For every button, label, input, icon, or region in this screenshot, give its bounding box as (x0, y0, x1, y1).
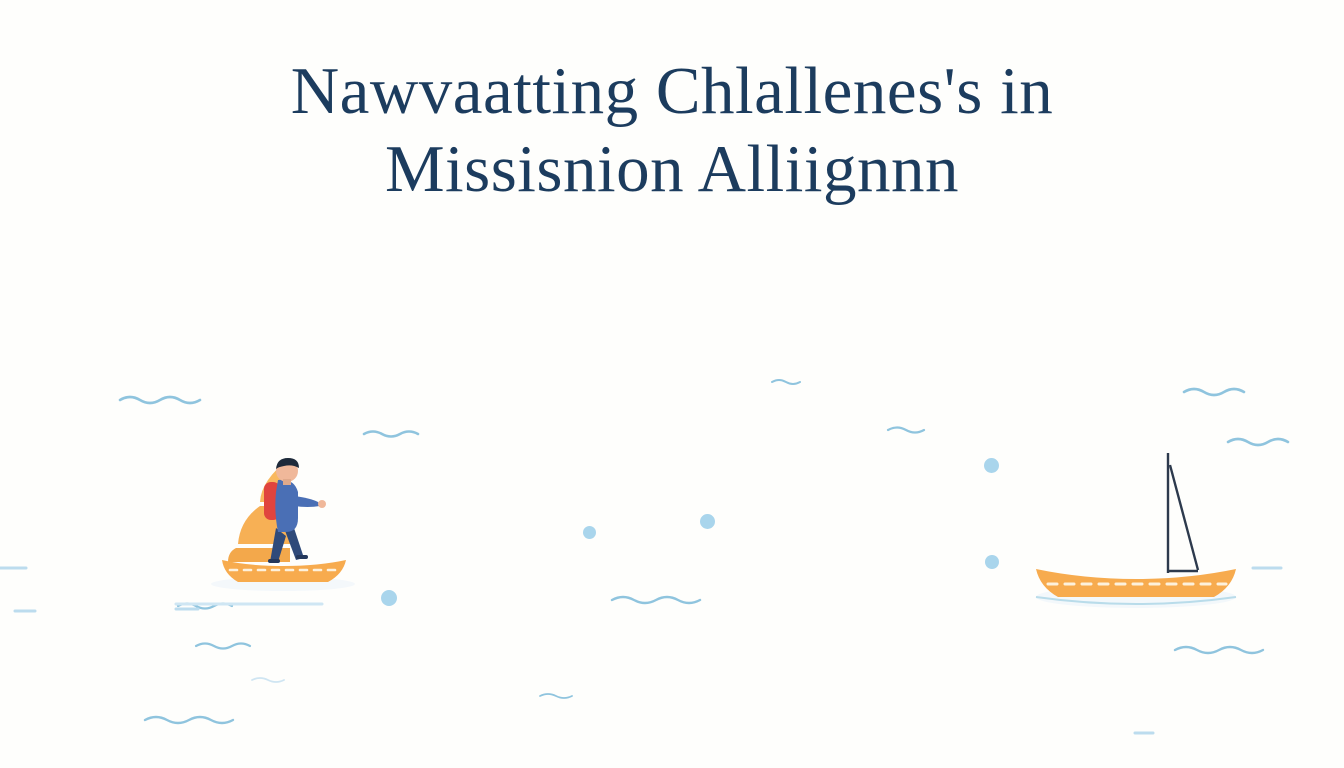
boat-hull-shape (1036, 569, 1236, 597)
page-title-line-2: Missisnion Alliignnn (0, 130, 1344, 208)
boat-hull-shape (222, 560, 346, 582)
dot-icon (583, 526, 596, 539)
mast-and-sail-outline (1168, 453, 1198, 573)
sailboat-empty-illustration (1028, 445, 1248, 620)
sailboat-with-person-illustration (198, 440, 368, 600)
dot-icon (984, 458, 999, 473)
page-title-line-1: Nawvaatting Chlallenes's in (0, 52, 1344, 130)
page-title: Nawvaatting Chlallenes's in Missisnion A… (0, 52, 1344, 208)
illustration-canvas: Nawvaatting Chlallenes's in Missisnion A… (0, 0, 1344, 768)
dot-icon (985, 555, 999, 569)
dot-icon (700, 514, 715, 529)
dot-icon (381, 590, 397, 606)
